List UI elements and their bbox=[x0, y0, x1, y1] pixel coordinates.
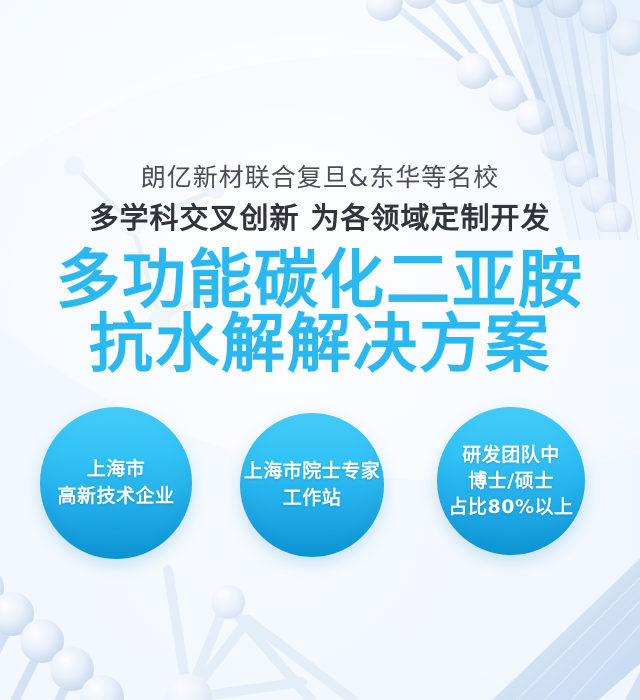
badge-label: 上海市院士专家 工作站 bbox=[244, 458, 381, 512]
badge-row: 上海市 高新技术企业 上海市院士专家 工作站 研发团队中 博士/硕士 占比80%… bbox=[0, 395, 640, 565]
headline-line-2: 抗水解解决方案 bbox=[0, 310, 640, 380]
headline-line-1: 多功能碳化二亚胺 bbox=[0, 246, 640, 316]
badge-label: 研发团队中 博士/硕士 占比80%以上 bbox=[449, 442, 574, 520]
badge-high-tech-enterprise[interactable]: 上海市 高新技术企业 bbox=[40, 407, 192, 559]
subhead-text: 多学科交叉创新 为各领域定制开发 bbox=[0, 200, 640, 236]
badge-rnd-team-degrees[interactable]: 研发团队中 博士/硕士 占比80%以上 bbox=[437, 407, 585, 555]
badge-academician-workstation[interactable]: 上海市院士专家 工作站 bbox=[240, 413, 384, 557]
badge-label: 上海市 高新技术企业 bbox=[57, 456, 174, 510]
promo-banner: 朗亿新材联合复旦&东华等名校 多学科交叉创新 为各领域定制开发 多功能碳化二亚胺… bbox=[0, 0, 640, 700]
kicker-text: 朗亿新材联合复旦&东华等名校 bbox=[0, 163, 640, 193]
